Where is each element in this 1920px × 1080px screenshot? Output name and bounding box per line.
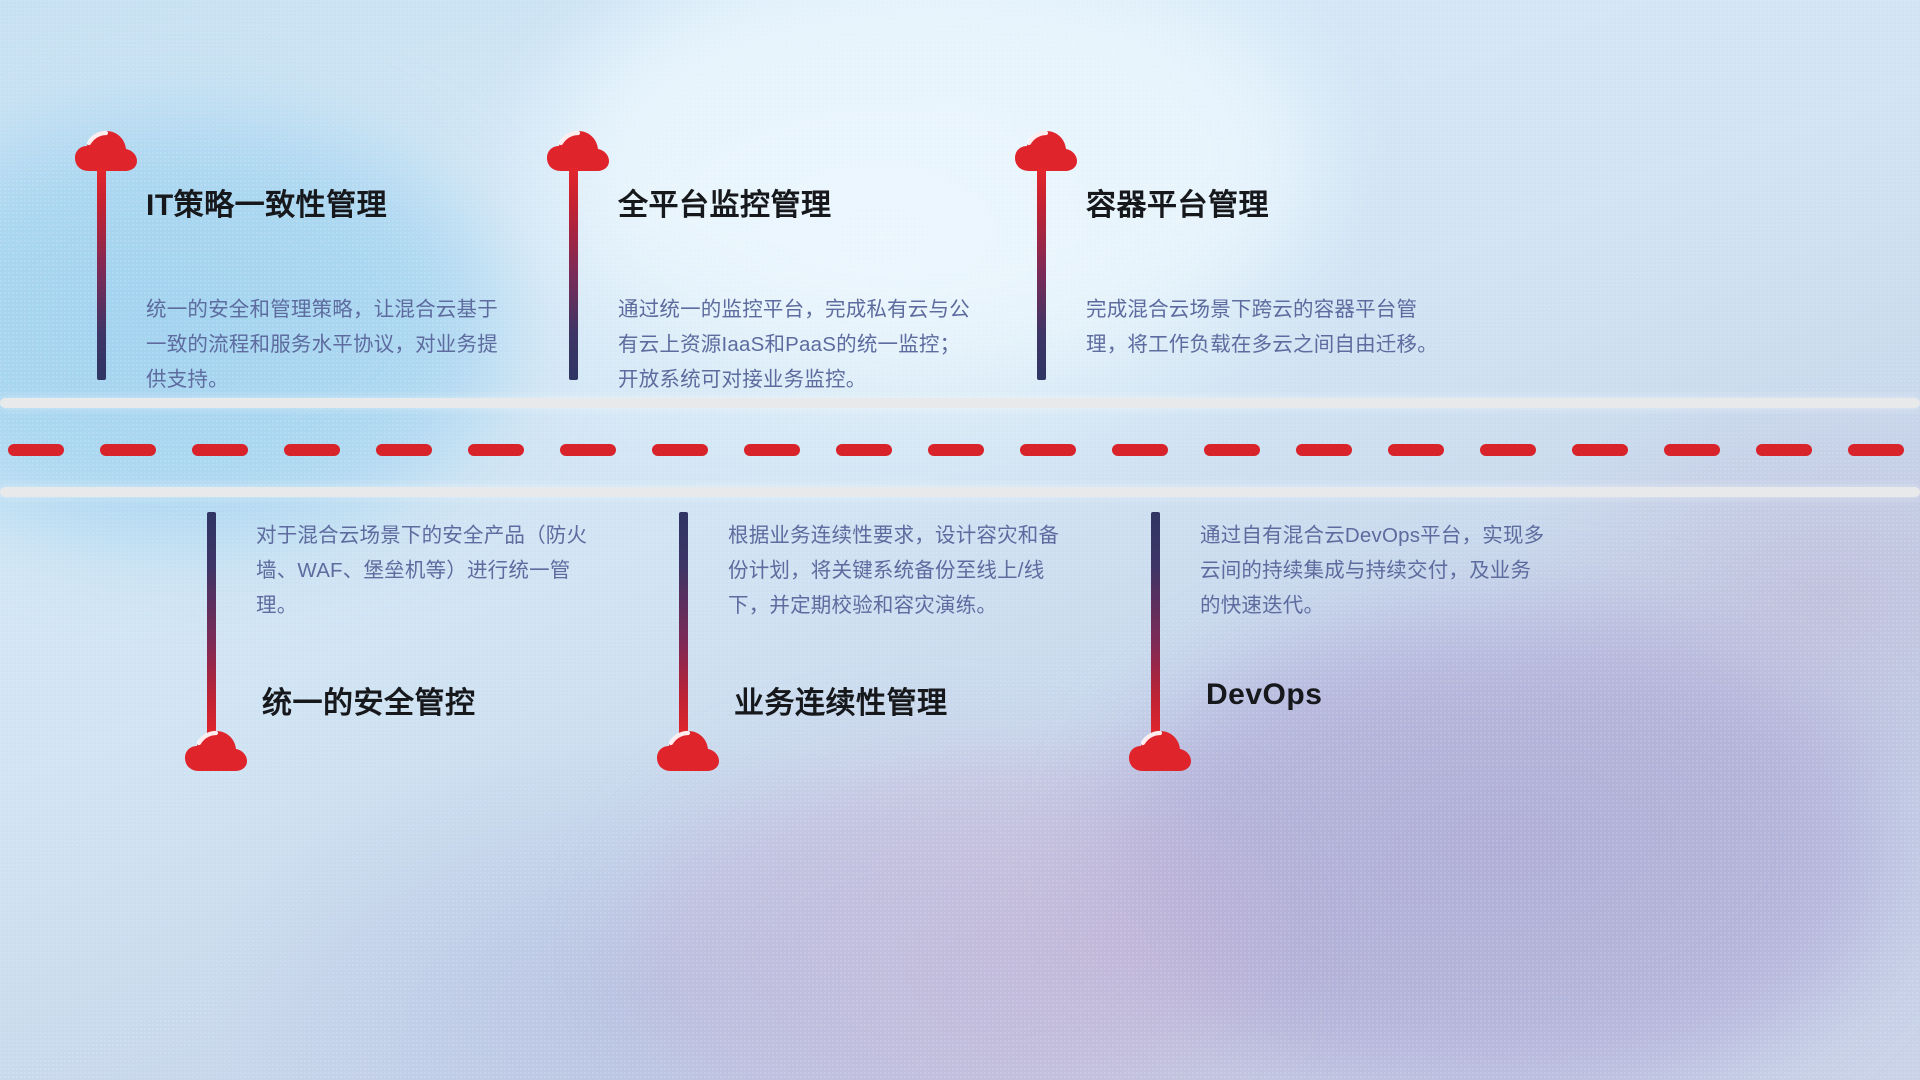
bg-glow-bottom-center bbox=[640, 760, 1260, 1080]
road-dash bbox=[1756, 444, 1812, 456]
cloud-icon bbox=[185, 730, 247, 774]
infographic-canvas: IT策略一致性管理 统一的安全和管理策略，让混合云基于一致的流程和服务水平协议，… bbox=[0, 0, 1920, 1080]
bottom-title-3: DevOps bbox=[1206, 678, 1322, 712]
road-dash bbox=[560, 444, 616, 456]
road-dash bbox=[1204, 444, 1260, 456]
bottom-body-2: 根据业务连续性要求，设计容灾和备份计划，将关键系统备份至线上/线下，并定期校验和… bbox=[728, 518, 1076, 623]
road-edge-top bbox=[0, 398, 1920, 408]
stem-bar bbox=[679, 512, 688, 738]
stem-bar bbox=[569, 168, 578, 380]
top-body-2: 通过统一的监控平台，完成私有云与公有云上资源IaaS和PaaS的统一监控；开放系… bbox=[618, 292, 980, 397]
stem-bar bbox=[1037, 168, 1046, 380]
cloud-icon bbox=[1129, 730, 1191, 774]
top-body-1: 统一的安全和管理策略，让混合云基于一致的流程和服务水平协议，对业务提供支持。 bbox=[146, 292, 498, 397]
road-dash bbox=[652, 444, 708, 456]
cloud-icon bbox=[1015, 130, 1077, 174]
road-dash bbox=[376, 444, 432, 456]
bottom-body-3: 通过自有混合云DevOps平台，实现多云间的持续集成与持续交付，及业务的快速迭代… bbox=[1200, 518, 1548, 623]
road-dash bbox=[1388, 444, 1444, 456]
road-dash bbox=[1572, 444, 1628, 456]
road-dash bbox=[1296, 444, 1352, 456]
road-dash bbox=[1848, 444, 1904, 456]
top-body-3: 完成混合云场景下跨云的容器平台管理，将工作负载在多云之间自由迁移。 bbox=[1086, 292, 1438, 362]
cloud-icon bbox=[657, 730, 719, 774]
stem-bar bbox=[1151, 512, 1160, 738]
road-dash bbox=[1112, 444, 1168, 456]
top-title-3: 容器平台管理 bbox=[1086, 180, 1269, 224]
road-dash bbox=[8, 444, 64, 456]
road-dash bbox=[468, 444, 524, 456]
cloud-icon bbox=[547, 130, 609, 174]
cloud-icon bbox=[75, 130, 137, 174]
road-dashes bbox=[0, 444, 1920, 456]
road-dash bbox=[100, 444, 156, 456]
road-dash bbox=[928, 444, 984, 456]
road-dash bbox=[744, 444, 800, 456]
road-dash bbox=[1020, 444, 1076, 456]
road-edge-bottom bbox=[0, 487, 1920, 497]
top-title-2: 全平台监控管理 bbox=[618, 180, 832, 224]
road-dash bbox=[836, 444, 892, 456]
road-dash bbox=[1664, 444, 1720, 456]
bottom-body-1: 对于混合云场景下的安全产品（防火墙、WAF、堡垒机等）进行统一管理。 bbox=[256, 518, 604, 623]
road-dash bbox=[284, 444, 340, 456]
road-dash bbox=[1480, 444, 1536, 456]
road-dash bbox=[192, 444, 248, 456]
bottom-title-2: 业务连续性管理 bbox=[734, 678, 948, 722]
stem-bar bbox=[97, 168, 106, 380]
top-title-1: IT策略一致性管理 bbox=[146, 180, 387, 224]
stem-bar bbox=[207, 512, 216, 738]
bottom-title-1: 统一的安全管控 bbox=[262, 678, 476, 722]
